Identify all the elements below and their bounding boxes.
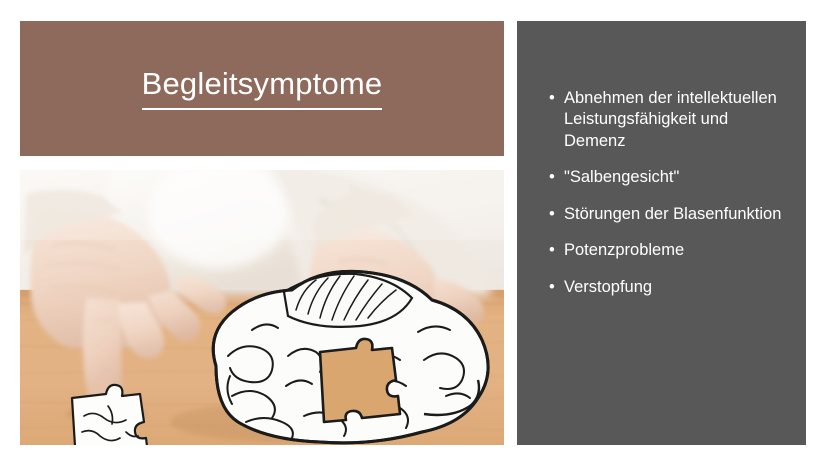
- symptom-list: • Abnehmen der intellektuellen Leistungs…: [549, 88, 785, 298]
- list-item: • Abnehmen der intellektuellen Leistungs…: [549, 88, 785, 152]
- bullet-marker-icon: •: [549, 240, 555, 261]
- page-title: Begleitsymptome: [142, 67, 383, 109]
- list-item-text: Potenzprobleme: [564, 241, 684, 259]
- photo-illustration: [20, 170, 504, 445]
- presentation-slide: Begleitsymptome: [0, 0, 828, 466]
- list-item: • Potenzprobleme: [549, 240, 785, 261]
- title-block: Begleitsymptome: [20, 21, 504, 156]
- bullet-marker-icon: •: [549, 167, 555, 188]
- list-item-text: Verstopfung: [564, 278, 652, 296]
- bullet-marker-icon: •: [549, 88, 555, 109]
- list-item-text: Störungen der Blasenfunktion: [564, 205, 781, 223]
- bullet-marker-icon: •: [549, 277, 555, 298]
- list-item-text: Abnehmen der intellektuellen Leistungsfä…: [564, 89, 777, 150]
- list-item-text: "Salbengesicht": [564, 168, 679, 186]
- list-item: • "Salbengesicht": [549, 167, 785, 188]
- content-panel: • Abnehmen der intellektuellen Leistungs…: [517, 21, 806, 445]
- list-item: • Störungen der Blasenfunktion: [549, 204, 785, 225]
- brain-puzzle-photo: [20, 170, 504, 445]
- list-item: • Verstopfung: [549, 277, 785, 298]
- bullet-marker-icon: •: [549, 204, 555, 225]
